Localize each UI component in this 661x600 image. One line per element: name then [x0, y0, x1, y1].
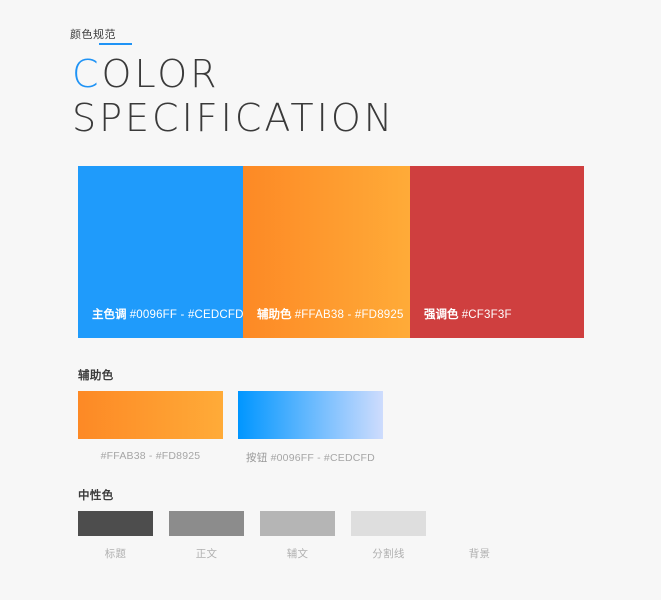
neutral-caption-title: 标题 — [78, 546, 153, 561]
neutral-swatch-row: 标题 正文 辅文 分割线 背景 — [78, 511, 584, 571]
neutral-swatch-title: 标题 — [78, 511, 153, 561]
neutral-swatch-body: 正文 — [169, 511, 244, 561]
auxiliary-caption-button-blue: 按钮 #0096FF - #CEDCFD — [238, 450, 383, 465]
auxiliary-caption-button-blue-hex: #0096FF - #CEDCFD — [271, 452, 375, 464]
color-specification-page: 颜色规范 COLOR SPECIFICATION 主色调 #0096FF - #… — [0, 0, 661, 600]
main-palette-bar: 主色调 #0096FF - #CEDCFD 辅助色 #FFAB38 - #FD8… — [78, 166, 584, 338]
auxiliary-chip-button-blue — [238, 391, 383, 439]
neutral-caption-background: 背景 — [442, 546, 517, 561]
palette-cell-primary: 主色调 #0096FF - #CEDCFD — [78, 166, 243, 338]
title-lead-letter: C — [72, 52, 102, 96]
section-eyebrow-label: 颜色规范 — [70, 28, 116, 42]
palette-label-primary: 主色调 #0096FF - #CEDCFD — [78, 308, 244, 338]
page-title-line-1: COLOR — [72, 52, 220, 96]
auxiliary-swatch-button-blue: 按钮 #0096FF - #CEDCFD — [238, 391, 383, 465]
neutral-swatch-subtext: 辅文 — [260, 511, 335, 561]
neutral-chip-title — [78, 511, 153, 536]
auxiliary-chip-orange — [78, 391, 223, 439]
auxiliary-swatch-orange: #FFAB38 - #FD8925 — [78, 391, 223, 462]
neutral-chip-divider — [351, 511, 426, 536]
neutral-section-heading: 中性色 — [78, 487, 114, 503]
palette-cell-accent: 强调色 #CF3F3F — [410, 166, 584, 338]
palette-label-accent-hex: #CF3F3F — [462, 309, 512, 321]
palette-label-secondary-zh: 辅助色 — [257, 309, 292, 321]
neutral-chip-background — [442, 511, 517, 536]
page-title-line-2: SPECIFICATION — [72, 96, 395, 140]
neutral-caption-subtext: 辅文 — [260, 546, 335, 561]
auxiliary-section-heading: 辅助色 — [78, 367, 114, 383]
auxiliary-swatch-row: #FFAB38 - #FD8925 按钮 #0096FF - #CEDCFD — [78, 391, 584, 466]
auxiliary-caption-button-blue-zh: 按钮 — [246, 452, 267, 464]
auxiliary-caption-orange-hex: #FFAB38 - #FD8925 — [101, 450, 201, 462]
neutral-chip-subtext — [260, 511, 335, 536]
title-line-1-rest: OLOR — [102, 52, 220, 96]
neutral-swatch-divider: 分割线 — [351, 511, 426, 561]
auxiliary-caption-orange: #FFAB38 - #FD8925 — [78, 450, 223, 462]
palette-cell-secondary: 辅助色 #FFAB38 - #FD8925 — [243, 166, 410, 338]
palette-label-accent: 强调色 #CF3F3F — [410, 308, 512, 338]
eyebrow-underline-rule — [99, 43, 132, 45]
palette-label-secondary: 辅助色 #FFAB38 - #FD8925 — [243, 308, 404, 338]
palette-label-primary-zh: 主色调 — [92, 309, 127, 321]
palette-label-accent-zh: 强调色 — [424, 309, 459, 321]
neutral-chip-body — [169, 511, 244, 536]
neutral-caption-divider: 分割线 — [351, 546, 426, 561]
palette-label-secondary-hex: #FFAB38 - #FD8925 — [295, 309, 404, 321]
neutral-caption-body: 正文 — [169, 546, 244, 561]
palette-label-primary-hex: #0096FF - #CEDCFD — [130, 309, 244, 321]
neutral-swatch-background: 背景 — [442, 511, 517, 561]
